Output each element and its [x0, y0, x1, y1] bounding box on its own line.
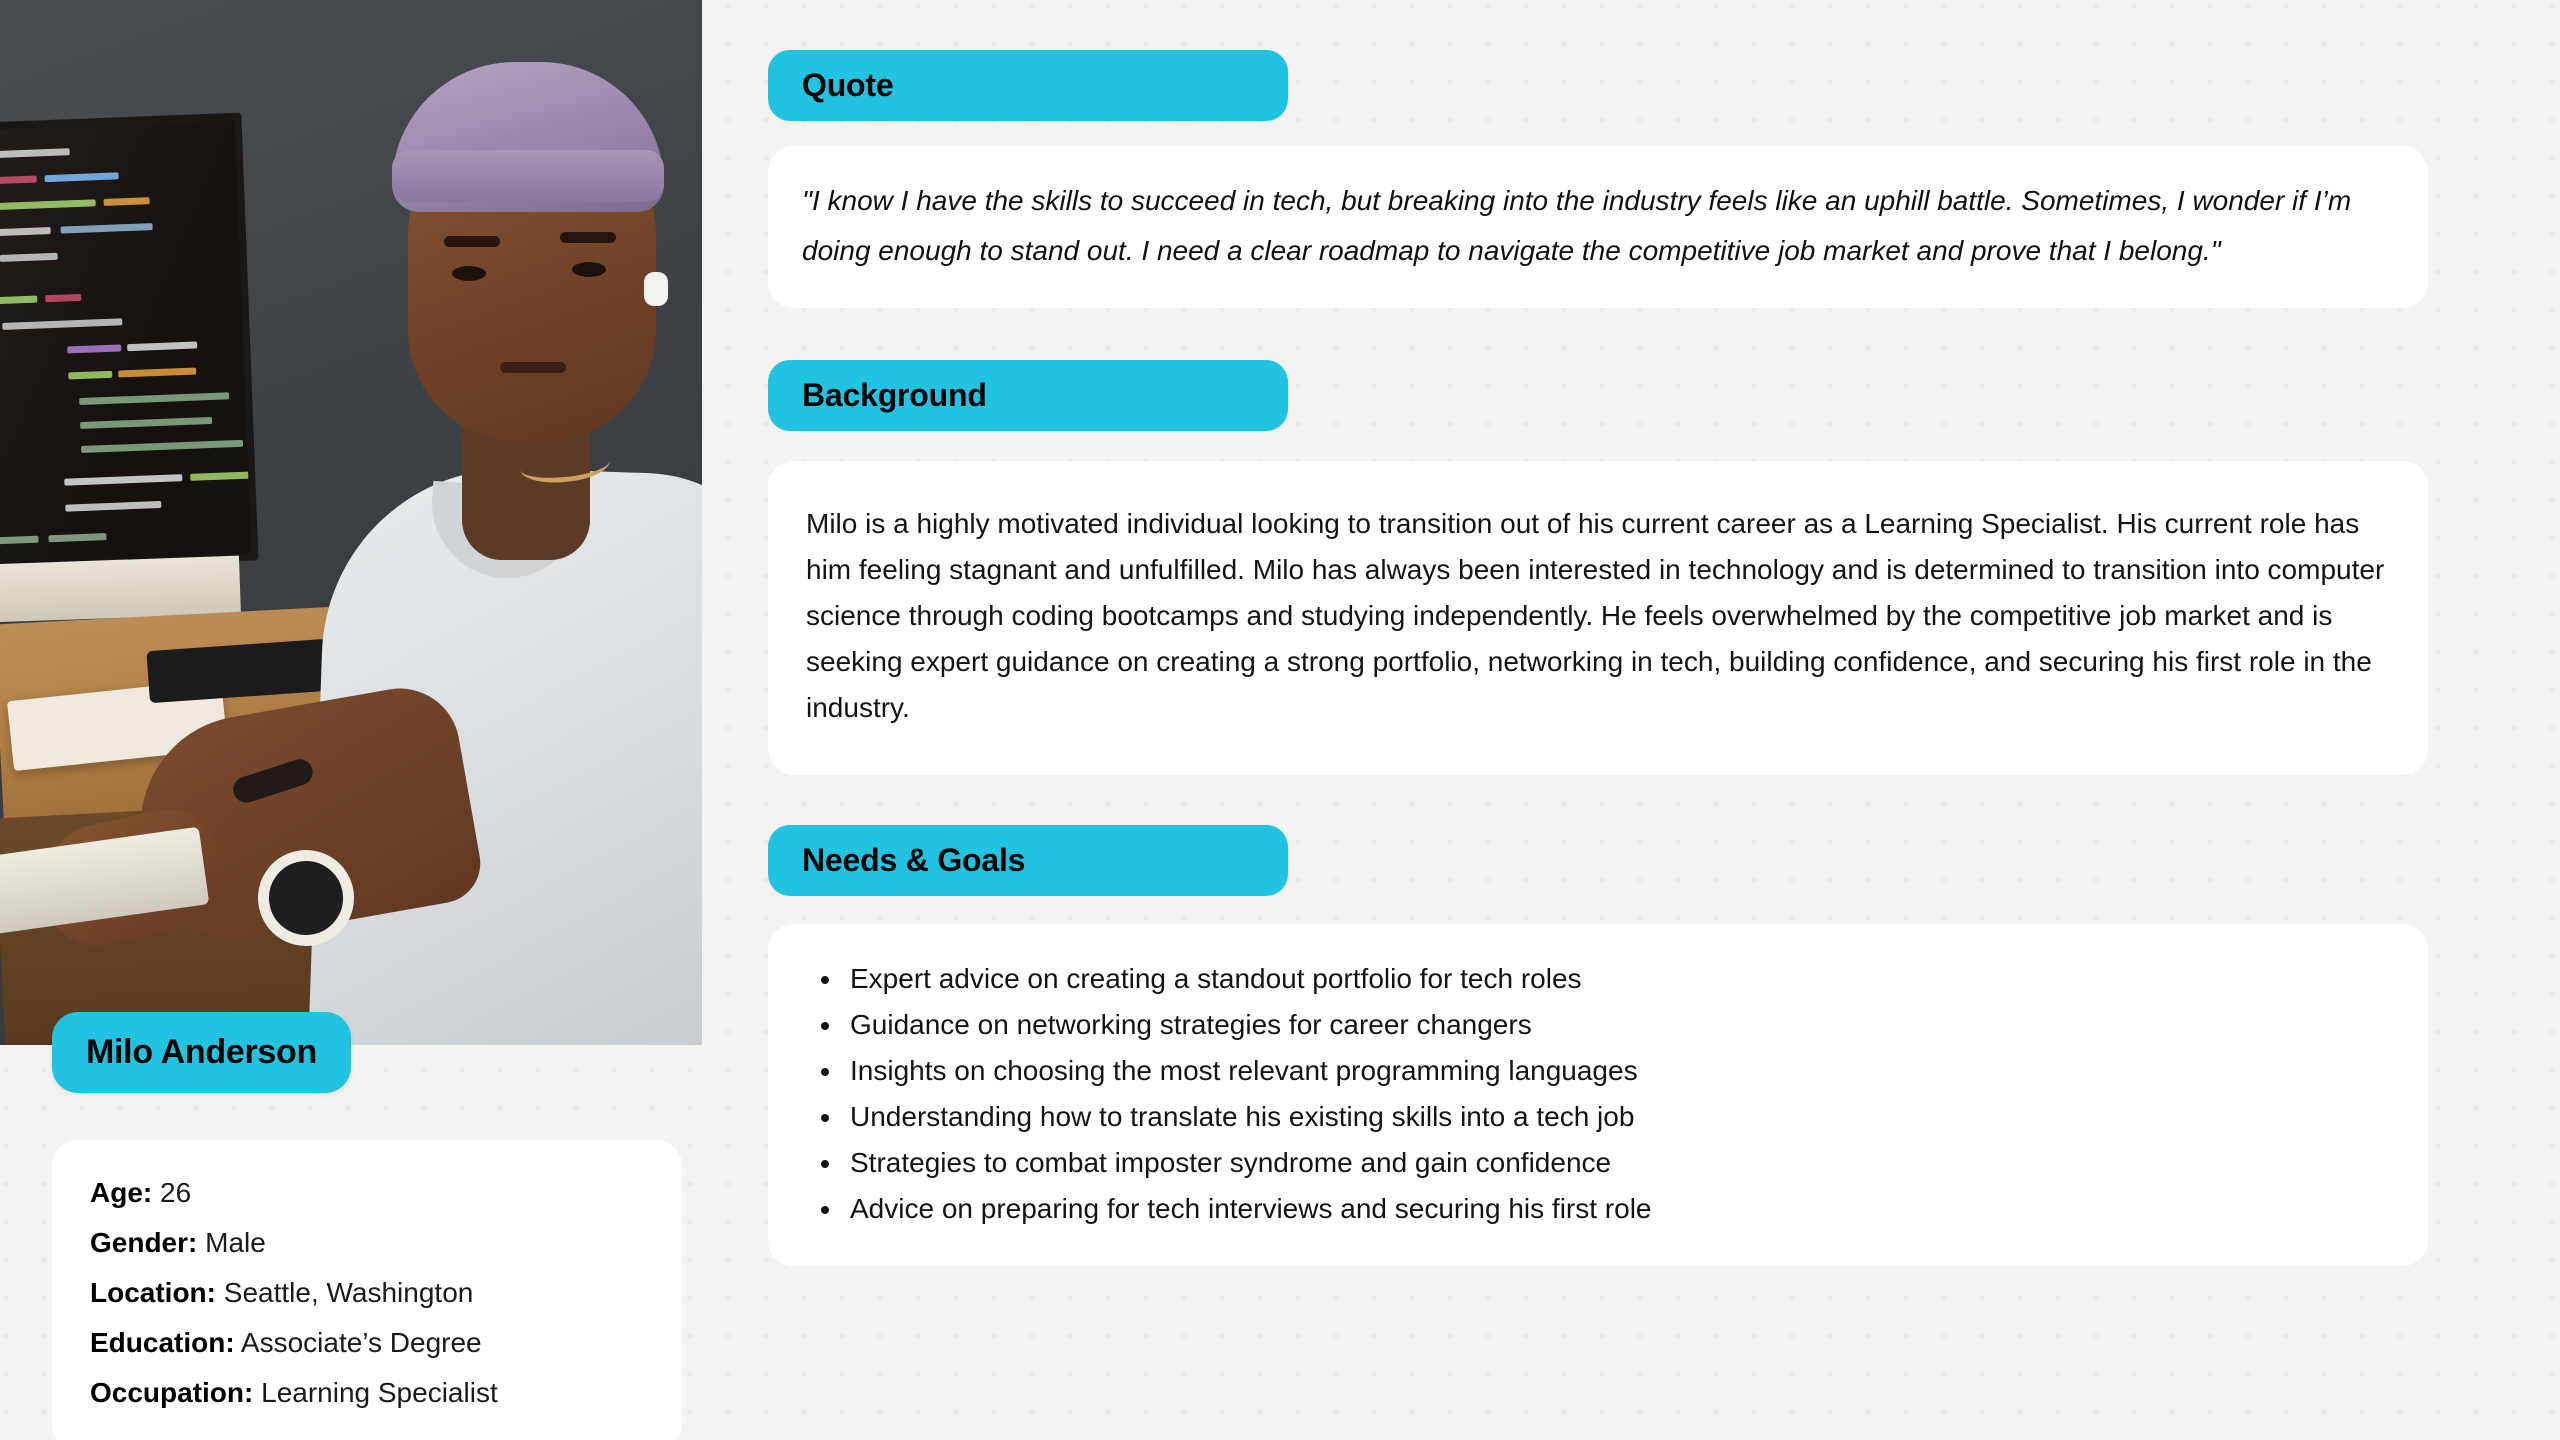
persona-content-column: Quote "I know I have the skills to succe…: [768, 0, 2560, 1440]
photo-monitor: [0, 113, 258, 572]
photo-beanie-brim: [392, 150, 664, 202]
quote-header-label: Quote: [802, 67, 893, 103]
detail-label-age: Age:: [90, 1177, 152, 1208]
detail-row-occupation: Occupation: Learning Specialist: [90, 1368, 644, 1418]
background-section: Background Milo is a highly motivated in…: [768, 360, 2428, 775]
photo-eye-left: [452, 266, 486, 281]
list-item: Guidance on networking strategies for ca…: [844, 1002, 2390, 1048]
quote-card: "I know I have the skills to succeed in …: [768, 146, 2428, 308]
needs-goals-header-label: Needs & Goals: [802, 842, 1025, 878]
detail-value-age: 26: [160, 1177, 191, 1208]
photo-eye-right: [572, 262, 606, 277]
persona-name-badge: Milo Anderson: [52, 1012, 351, 1093]
detail-label-education: Education:: [90, 1327, 235, 1358]
detail-label-gender: Gender:: [90, 1227, 197, 1258]
persona-photo: [0, 0, 702, 1045]
needs-goals-section: Needs & Goals Expert advice on creating …: [768, 825, 2428, 1266]
detail-value-location: Seattle, Washington: [224, 1277, 474, 1308]
list-item: Expert advice on creating a standout por…: [844, 956, 2390, 1002]
background-text: Milo is a highly motivated individual lo…: [806, 501, 2390, 731]
needs-goals-card: Expert advice on creating a standout por…: [768, 924, 2428, 1266]
quote-text: "I know I have the skills to succeed in …: [802, 176, 2394, 276]
list-item: Advice on preparing for tech interviews …: [844, 1186, 2390, 1232]
list-item: Insights on choosing the most relevant p…: [844, 1048, 2390, 1094]
persona-page: Milo Anderson Age: 26 Gender: Male Locat…: [0, 0, 2560, 1440]
photo-mouth: [500, 362, 566, 373]
detail-value-gender: Male: [205, 1227, 266, 1258]
persona-details-card: Age: 26 Gender: Male Location: Seattle, …: [52, 1140, 682, 1440]
detail-value-education: Associate’s Degree: [241, 1327, 482, 1358]
needs-goals-list: Expert advice on creating a standout por…: [824, 956, 2390, 1232]
list-item: Understanding how to translate his exist…: [844, 1094, 2390, 1140]
background-header-label: Background: [802, 377, 987, 413]
persona-name: Milo Anderson: [86, 1033, 317, 1072]
detail-row-gender: Gender: Male: [90, 1218, 644, 1268]
needs-goals-section-header: Needs & Goals: [768, 825, 1288, 896]
detail-row-age: Age: 26: [90, 1168, 644, 1218]
photo-monitor-stand: [0, 556, 241, 623]
quote-section-header: Quote: [768, 50, 1288, 121]
photo-earbud: [644, 272, 668, 306]
detail-value-occupation: Learning Specialist: [261, 1377, 498, 1408]
background-card: Milo is a highly motivated individual lo…: [768, 461, 2428, 775]
quote-section: Quote "I know I have the skills to succe…: [768, 50, 2428, 308]
detail-label-location: Location:: [90, 1277, 216, 1308]
list-item: Strategies to combat imposter syndrome a…: [844, 1140, 2390, 1186]
background-section-header: Background: [768, 360, 1288, 431]
detail-row-location: Location: Seattle, Washington: [90, 1268, 644, 1318]
photo-eyebrow-right: [560, 232, 616, 243]
detail-row-education: Education: Associate’s Degree: [90, 1318, 644, 1368]
photo-eyebrow-left: [444, 236, 500, 247]
detail-label-occupation: Occupation:: [90, 1377, 253, 1408]
